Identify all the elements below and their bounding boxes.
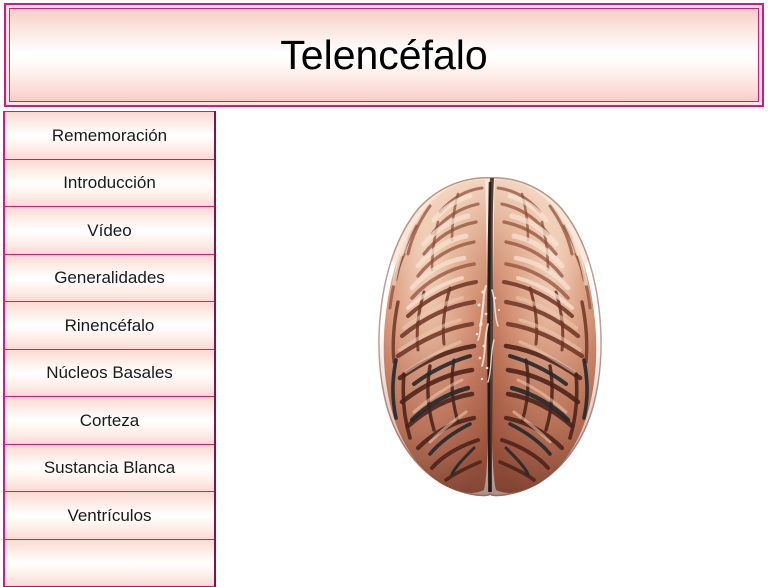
sidebar-item-generalidades[interactable]: Generalidades — [3, 254, 216, 303]
sidebar-item-label: Vídeo — [87, 222, 131, 239]
slide-content-area — [217, 111, 768, 576]
slide-canvas: Telencéfalo Rememoración Introducción Ví… — [0, 0, 768, 576]
sidebar-item-ventriculos[interactable]: Ventrículos — [3, 491, 216, 540]
sidebar-item-label: Núcleos Basales — [46, 364, 173, 381]
sidebar-item-rinencefalo[interactable]: Rinencéfalo — [3, 301, 216, 350]
sidebar-item-nucleos-basales[interactable]: Núcleos Basales — [3, 349, 216, 398]
sidebar-item-label: Generalidades — [54, 269, 165, 286]
sidebar-item-introduccion[interactable]: Introducción — [3, 159, 216, 208]
brain-superior-view-photo — [374, 174, 606, 498]
sidebar-content-divider — [214, 111, 216, 576]
sidebar-item-label: Rememoración — [52, 127, 167, 144]
sidebar-item-corteza[interactable]: Corteza — [3, 396, 216, 445]
sidebar-item-label: Rinencéfalo — [65, 317, 155, 334]
sidebar-item-label: Ventrículos — [67, 507, 151, 524]
sidebar-item-label: Introducción — [63, 174, 156, 191]
slide-title-box-inner: Telencéfalo — [9, 8, 759, 102]
sidebar-item-video[interactable]: Vídeo — [3, 206, 216, 255]
sidebar-item-sustancia-blanca[interactable]: Sustancia Blanca — [3, 444, 216, 493]
sidebar-item-rememoracion[interactable]: Rememoración — [3, 111, 216, 160]
sidebar-item-label: Sustancia Blanca — [44, 459, 175, 476]
sidebar-nav: Rememoración Introducción Vídeo Generali… — [3, 111, 216, 576]
slide-title-box: Telencéfalo — [4, 3, 764, 107]
sidebar-item-label: Corteza — [80, 412, 140, 429]
sidebar-item-empty[interactable] — [3, 539, 216, 587]
page-title: Telencéfalo — [280, 35, 487, 76]
